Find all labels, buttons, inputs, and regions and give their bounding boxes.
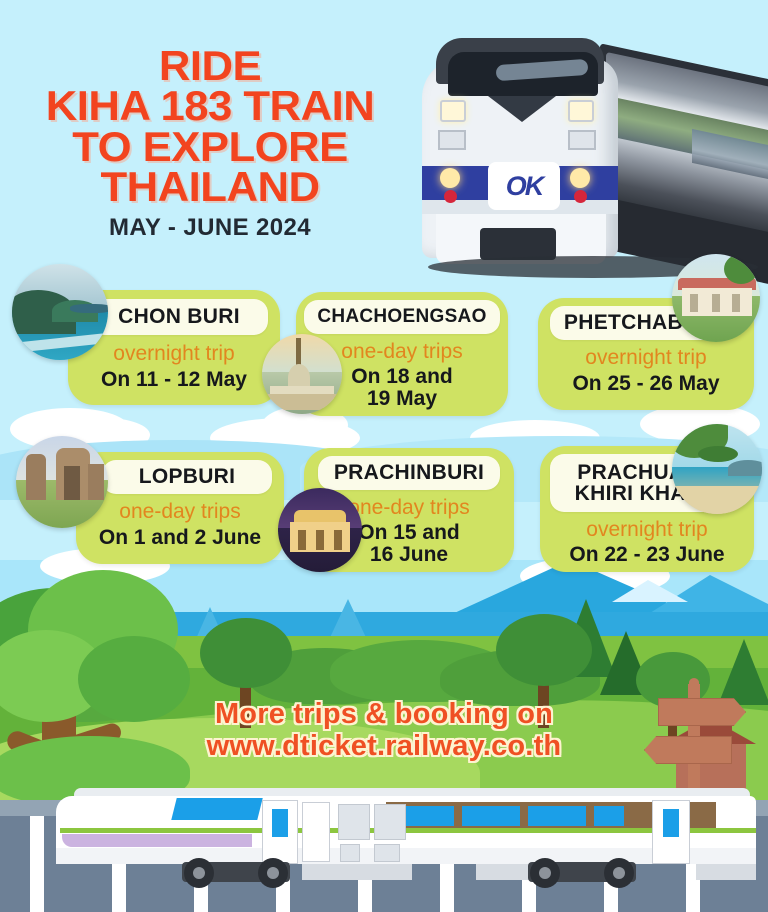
kiha-183-train-photo: OK bbox=[392, 18, 768, 286]
logo-text: OK bbox=[506, 171, 543, 202]
vtrain-window bbox=[462, 806, 520, 826]
headline-line-4: THAILAND bbox=[6, 167, 414, 207]
destination-name-pill: LOPBURI bbox=[102, 460, 272, 494]
vtrain-skirt bbox=[302, 864, 412, 880]
destination-name: LOPBURI bbox=[139, 466, 236, 487]
jr-hokkaido-logo: OK bbox=[488, 162, 560, 210]
destination-name-pill: CHON BURI bbox=[90, 299, 268, 335]
train-coupler bbox=[480, 228, 556, 260]
thumbnail-phetchaburi-palace-photo bbox=[672, 254, 760, 342]
headlight-upper-right bbox=[568, 100, 594, 122]
vtrain-grille bbox=[374, 844, 400, 862]
headline-line-2: KIHA 183 TRAIN bbox=[6, 86, 414, 126]
vtrain-door bbox=[262, 800, 298, 864]
vtrain-wheel bbox=[530, 858, 560, 888]
tail-light-right bbox=[574, 190, 587, 203]
vtrain-window bbox=[594, 806, 624, 826]
vtrain-grille bbox=[338, 804, 370, 840]
vtrain-wheel bbox=[258, 858, 288, 888]
vtrain-grille bbox=[340, 844, 360, 862]
mountain-snowcap bbox=[612, 580, 688, 602]
destination-name-pill: PRACHINBURI bbox=[318, 456, 500, 490]
headlight-lower-right bbox=[570, 168, 590, 188]
headline-date-range: MAY - JUNE 2024 bbox=[14, 214, 406, 242]
destination-name-pill: CHACHOENGSAO bbox=[304, 300, 500, 334]
headlight-upper-left bbox=[440, 100, 466, 122]
vtrain-lower-band bbox=[56, 848, 756, 864]
trip-dates: On 1 and 2 June bbox=[76, 527, 284, 549]
trip-type: overnight trip bbox=[540, 518, 754, 542]
train-chevron-emblem bbox=[488, 96, 556, 122]
headline-line-3: TO EXPLORE bbox=[6, 127, 414, 167]
footer-website-url[interactable]: www.dticket.railway.co.th bbox=[0, 730, 768, 762]
destination-name: CHON BURI bbox=[118, 306, 240, 327]
vtrain-door bbox=[652, 800, 690, 864]
trip-dates: On 11 - 12 May bbox=[68, 369, 280, 391]
headline-line-1: RIDE bbox=[6, 46, 414, 86]
poster-canvas: OK RIDE KIHA 183 TRAIN TO EXPLORE THAILA… bbox=[0, 0, 768, 912]
vtrain-skirt bbox=[696, 864, 756, 880]
thumbnail-prachuap-beach-photo bbox=[672, 424, 762, 514]
train-vent-left bbox=[438, 130, 466, 150]
thumbnail-prachinburi-building-night-photo bbox=[278, 488, 362, 572]
vtrain-window bbox=[528, 806, 586, 826]
vtrain-door-window bbox=[663, 809, 679, 837]
headline-block: RIDE KIHA 183 TRAIN TO EXPLORE THAILAND … bbox=[14, 46, 406, 242]
footer-cta: More trips & booking on www.dticket.rail… bbox=[0, 698, 768, 763]
vtrain-purple-stripe bbox=[62, 834, 252, 847]
headlight-lower-left bbox=[440, 168, 460, 188]
destination-name: CHACHOENGSAO bbox=[317, 307, 486, 326]
track-sleeper bbox=[30, 816, 44, 912]
signpost-cap bbox=[689, 678, 699, 687]
train-vent-right bbox=[568, 130, 596, 150]
thumbnail-chachoengsao-temple-photo bbox=[262, 334, 342, 414]
trip-dates: On 22 - 23 June bbox=[540, 544, 754, 566]
trip-dates: On 25 - 26 May bbox=[538, 373, 754, 395]
thumbnail-chonburi-coast-photo bbox=[12, 264, 108, 360]
vtrain-wheel bbox=[604, 858, 634, 888]
vtrain-door-window bbox=[272, 809, 288, 837]
footer-line-1: More trips & booking on bbox=[0, 698, 768, 730]
vtrain-cab-window bbox=[171, 798, 262, 820]
destination-name: PRACHINBURI bbox=[334, 462, 484, 483]
trip-type: overnight trip bbox=[538, 346, 754, 370]
vtrain-door bbox=[302, 802, 330, 862]
bottom-train-illustration bbox=[56, 782, 768, 894]
thumbnail-lopburi-ruins-photo bbox=[16, 436, 108, 528]
vtrain-wheel bbox=[184, 858, 214, 888]
tail-light-left bbox=[444, 190, 457, 203]
vtrain-grille bbox=[374, 804, 406, 840]
